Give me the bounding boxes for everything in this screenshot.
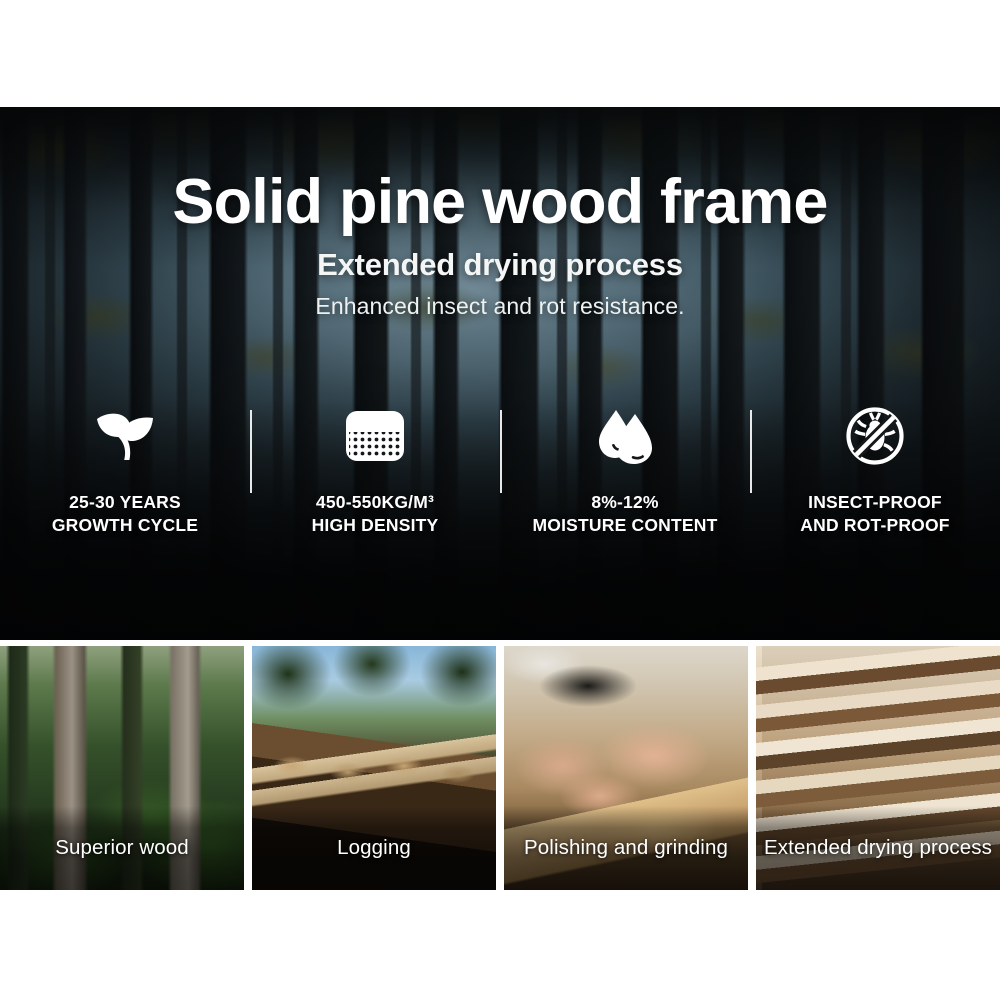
leaf-sprout-icon xyxy=(94,405,156,467)
feature-label: 8%-12% MOISTURE CONTENT xyxy=(532,491,717,537)
feature-label-line1: 25-30 YEARS xyxy=(69,492,181,512)
feature-moisture-content: 8%-12% MOISTURE CONTENT xyxy=(500,402,750,537)
tile-caption-overlay: Extended drying process xyxy=(756,806,1000,890)
feature-label-line2: MOISTURE CONTENT xyxy=(532,514,717,537)
tile-caption: Extended drying process xyxy=(756,836,1000,860)
gallery-tile-logging[interactable]: Logging xyxy=(252,646,496,890)
no-insect-icon xyxy=(845,405,905,467)
tile-caption-overlay: Superior wood xyxy=(0,806,244,890)
feature-label-line1: 450-550KG/M³ xyxy=(316,492,434,512)
tile-caption-overlay: Polishing and grinding xyxy=(504,806,748,890)
hero-banner: Solid pine wood frame Extended drying pr… xyxy=(0,107,1000,640)
gallery-tile-extended-drying[interactable]: Extended drying process xyxy=(756,646,1000,890)
process-gallery: Superior wood Logging Polishing and grin… xyxy=(0,646,1000,890)
watermark xyxy=(979,576,992,626)
feature-insect-rot-proof: INSECT-PROOF AND ROT-PROOF xyxy=(750,402,1000,537)
feature-label-line2: HIGH DENSITY xyxy=(312,514,439,537)
feature-high-density: 450-550KG/M³ HIGH DENSITY xyxy=(250,402,500,537)
gallery-tile-superior-wood[interactable]: Superior wood xyxy=(0,646,244,890)
tile-caption: Superior wood xyxy=(0,836,244,860)
tile-caption-overlay: Logging xyxy=(252,806,496,890)
hero-title: Solid pine wood frame xyxy=(0,107,1000,234)
feature-growth-cycle: 25-30 YEARS GROWTH CYCLE xyxy=(0,402,250,537)
feature-row: 25-30 YEARS GROWTH CYCLE xyxy=(0,402,1000,542)
tile-caption: Logging xyxy=(252,836,496,860)
mattress-density-icon xyxy=(345,405,405,467)
feature-label: 450-550KG/M³ HIGH DENSITY xyxy=(312,491,439,537)
infographic-page: Solid pine wood frame Extended drying pr… xyxy=(0,0,1000,1000)
feature-label-line1: 8%-12% xyxy=(591,492,658,512)
gallery-tile-polishing-grinding[interactable]: Polishing and grinding xyxy=(504,646,748,890)
feature-label: 25-30 YEARS GROWTH CYCLE xyxy=(52,491,198,537)
hero-subtitle: Extended drying process xyxy=(0,234,1000,282)
feature-label-line1: INSECT-PROOF xyxy=(808,492,942,512)
feature-label-line2: AND ROT-PROOF xyxy=(800,514,949,537)
feature-label: INSECT-PROOF AND ROT-PROOF xyxy=(800,491,949,537)
tile-caption: Polishing and grinding xyxy=(504,836,748,860)
feature-label-line2: GROWTH CYCLE xyxy=(52,514,198,537)
hero-text-block: Solid pine wood frame Extended drying pr… xyxy=(0,107,1000,320)
hero-tagline: Enhanced insect and rot resistance. xyxy=(0,282,1000,319)
water-droplets-icon xyxy=(594,405,656,467)
